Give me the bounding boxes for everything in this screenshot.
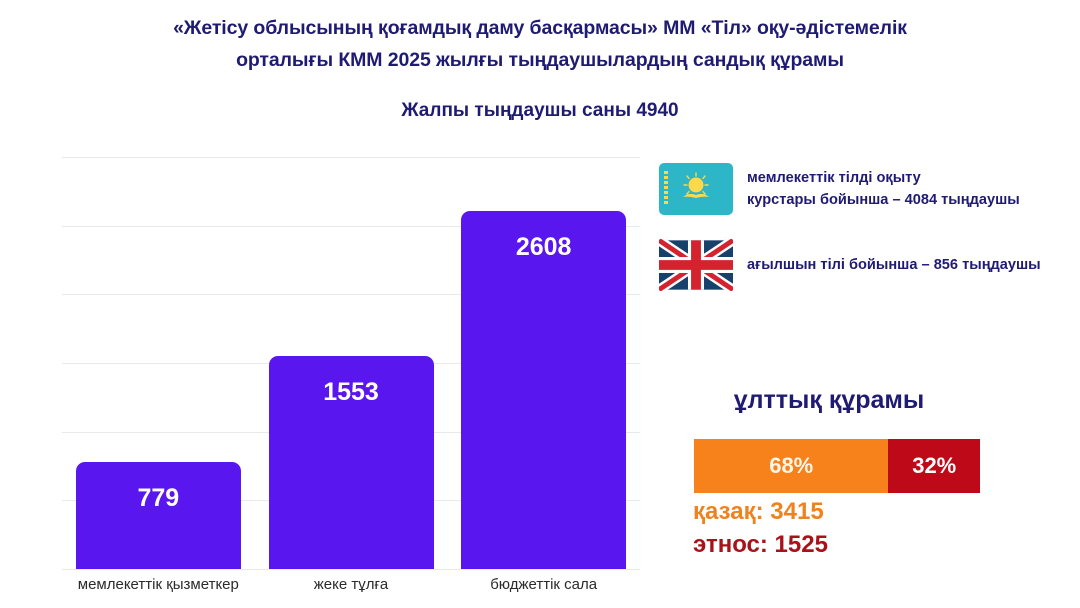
bar-chart: 300025002000150010005000 77915532608 мем… [0, 140, 648, 608]
chart-subtitle: Жалпы тыңдаушы саны 4940 [60, 100, 1020, 122]
united-kingdom-flag-icon [659, 239, 733, 291]
legend-item-english: ағылшын тілі бойынша – 856 тыңдаушы [659, 239, 1080, 291]
legend-label-english-line1: ағылшын тілі бойынша – 856 тыңдаушы [747, 257, 1041, 273]
legend: мемлекеттік тілді оқыту курстары бойынша… [659, 163, 1080, 315]
title-line-2: орталығы КММ 2025 жылғы тыңдаушылардың с… [60, 44, 1020, 76]
legend-item-kazakh: мемлекеттік тілді оқыту курстары бойынша… [659, 163, 1080, 215]
title-line-1: «Жетісу облысының қоғамдық даму басқарма… [60, 12, 1020, 44]
bar[interactable]: 2608 [461, 211, 626, 569]
legend-label-kazakh: мемлекеттік тілді оқыту курстары бойынша… [747, 167, 1020, 211]
count-ethnos: этнос: 1525 [693, 531, 828, 559]
category-label: мемлекеттік қызметкер [56, 576, 261, 593]
legend-label-english: ағылшын тілі бойынша – 856 тыңдаушы [747, 254, 1041, 276]
nationality-composition: ұлттық құрамы 68% 32% қазақ: 3415 этнос:… [659, 386, 1080, 415]
bar[interactable]: 779 [76, 462, 241, 569]
percent-segment-ethnos: 32% [888, 439, 980, 493]
bar-value-label: 779 [76, 484, 241, 513]
plot-area: 300025002000150010005000 77915532608 [62, 157, 640, 569]
count-kazakh: қазақ: 3415 [693, 498, 824, 526]
category-label: бюджеттік сала [441, 576, 646, 593]
bar-value-label: 2608 [461, 233, 626, 262]
page-title: «Жетісу облысының қоғамдық даму басқарма… [60, 12, 1020, 76]
nationality-title: ұлттық құрамы [664, 386, 994, 415]
bar[interactable]: 1553 [269, 356, 434, 569]
bars-group: 77915532608 [62, 157, 640, 569]
kazakhstan-flag-icon [659, 163, 733, 215]
category-label: жеке тұлға [249, 576, 454, 593]
nationality-percent-bar: 68% 32% [694, 439, 980, 493]
legend-label-kazakh-line2: курстары бойынша – 4084 тыңдаушы [747, 189, 1020, 211]
gridline [62, 569, 640, 570]
bar-value-label: 1553 [269, 378, 434, 407]
legend-label-kazakh-line1: мемлекеттік тілді оқыту [747, 170, 921, 186]
percent-segment-kazakh: 68% [694, 439, 888, 493]
